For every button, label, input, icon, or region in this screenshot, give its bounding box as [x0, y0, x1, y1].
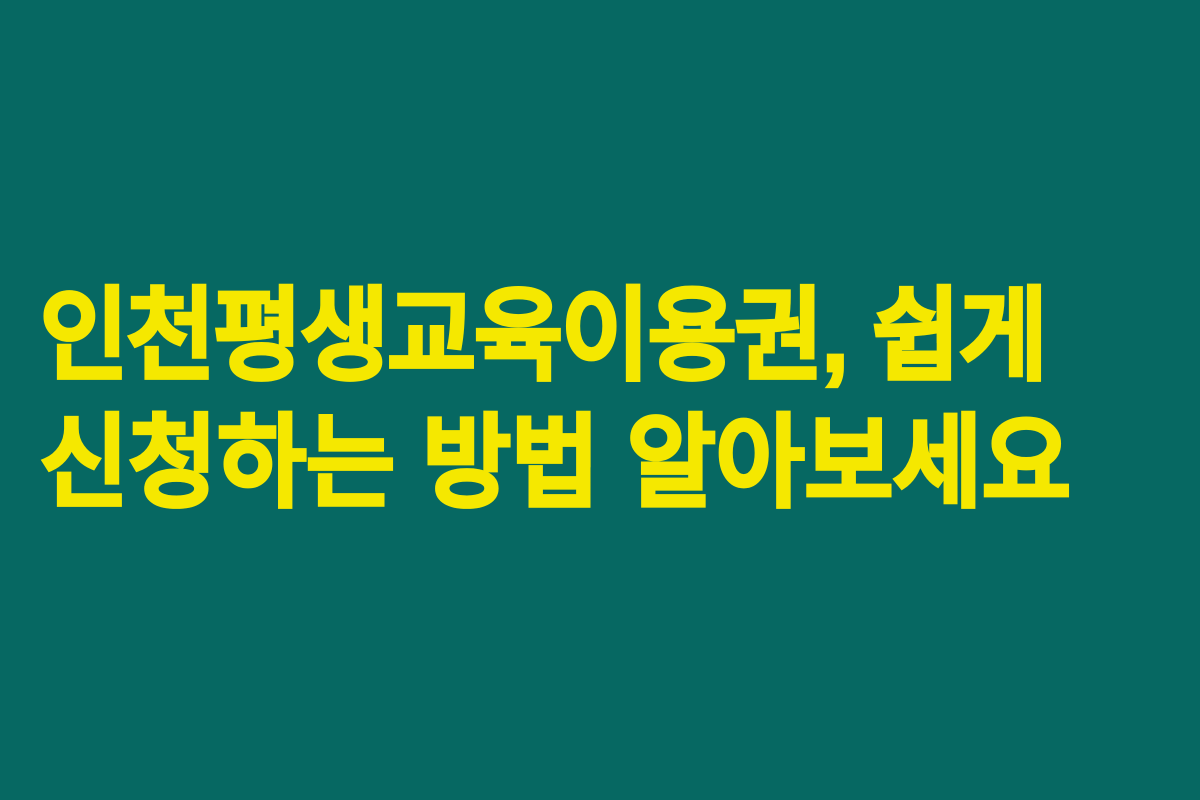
- headline-block: 인천평생교육이용권, 쉽게 신청하는 방법 알아보세요: [0, 274, 1091, 527]
- headline-line-1: 인천평생교육이용권, 쉽게: [40, 271, 1071, 404]
- promo-banner: 인천평생교육이용권, 쉽게 신청하는 방법 알아보세요: [0, 0, 1200, 800]
- headline-line-2: 신청하는 방법 알아보세요: [40, 398, 1071, 531]
